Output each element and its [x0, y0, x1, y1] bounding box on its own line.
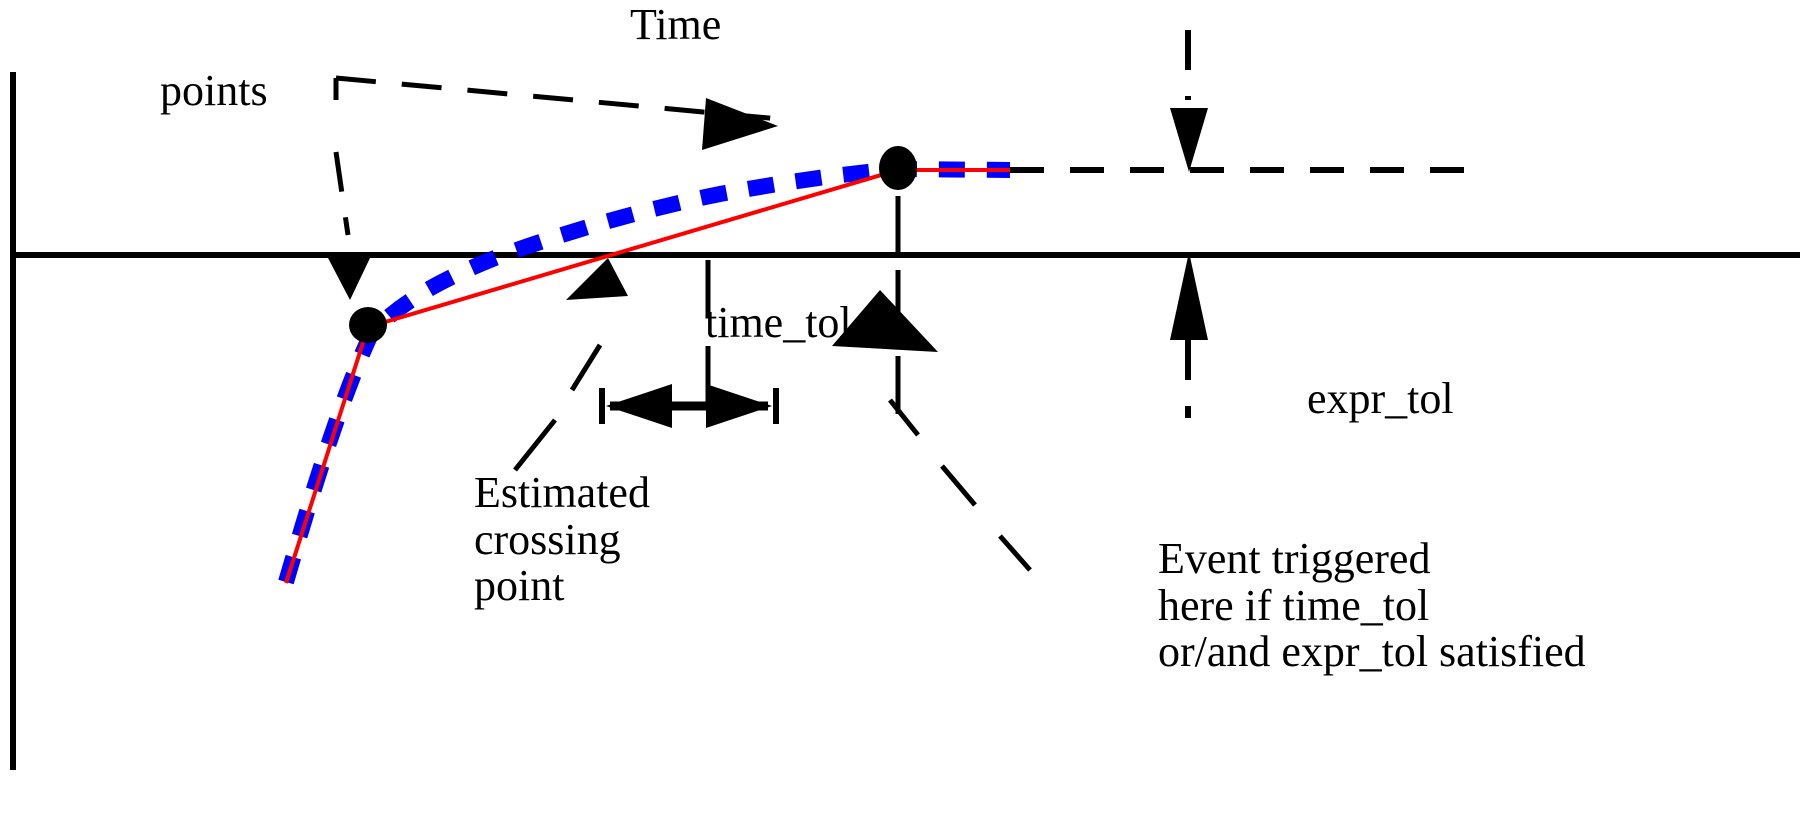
mesh-point-1: [349, 307, 387, 343]
time-axis-label: Time: [630, 2, 721, 49]
time-tol-arrowhead-right: [706, 384, 772, 428]
event-triggered-label: Event triggered here if time_tol or/and …: [1158, 536, 1586, 676]
expr-tol-label: expr_tol: [1307, 376, 1454, 423]
estimated-crossing-point-label: Estimated crossing point: [474, 470, 650, 610]
points-leader-lower: [336, 152, 348, 235]
time-tol-label: time_tol: [705, 300, 852, 347]
diagram-vector-layer: [0, 0, 1815, 840]
crossing-point-leader: [515, 345, 600, 470]
expr-tol-lower-arrowhead: [1170, 252, 1208, 340]
points-arrowhead-lower: [328, 258, 370, 300]
mesh-point-2: [879, 146, 917, 190]
event-leader: [890, 400, 1030, 570]
diagram-canvas: Time points time_tol expr_tol Estimated …: [0, 0, 1815, 840]
expr-tol-upper-arrowhead: [1170, 108, 1208, 172]
time-tol-arrowhead-left: [606, 384, 672, 428]
points-arrowhead-upper: [702, 98, 778, 150]
points-label: points: [160, 68, 268, 115]
